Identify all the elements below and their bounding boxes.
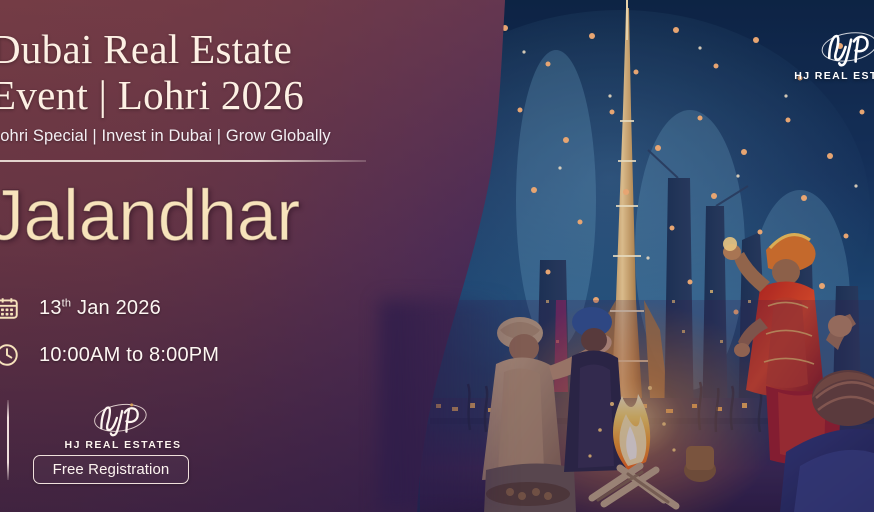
title-divider [0,160,366,162]
hj-monogram-icon [28,396,218,438]
corner-brand-logo: HJ REAL ESTATES [792,24,874,82]
hj-monogram-icon-corner [792,24,874,68]
event-date-text: 13th Jan 2026 [39,297,161,320]
calendar-icon [0,294,21,322]
event-banner: Dubai Real Estate Event | Lohri 2026 Loh… [0,0,874,512]
left-panel-content: Dubai Real Estate Event | Lohri 2026 Loh… [0,0,420,512]
free-registration-button[interactable]: Free Registration [33,455,189,484]
clock-icon [0,341,21,369]
event-time-text: 10:00AM to 8:00PM [39,344,219,367]
event-subtitle: Lohri Special | Invest in Dubai | Grow G… [0,126,421,146]
event-title: Dubai Real Estate Event | Lohri 2026 [0,26,421,118]
corner-brand-name: HJ REAL ESTATES [792,70,874,82]
brand-name: HJ REAL ESTATES [28,439,218,451]
brand-divider [7,400,9,480]
city-name: Jalandhar [0,176,438,256]
brand-logo: HJ REAL ESTATES [28,396,218,451]
event-time-row: 10:00AM to 8:00PM [0,341,219,369]
event-date-row: 13th Jan 2026 [0,294,161,322]
